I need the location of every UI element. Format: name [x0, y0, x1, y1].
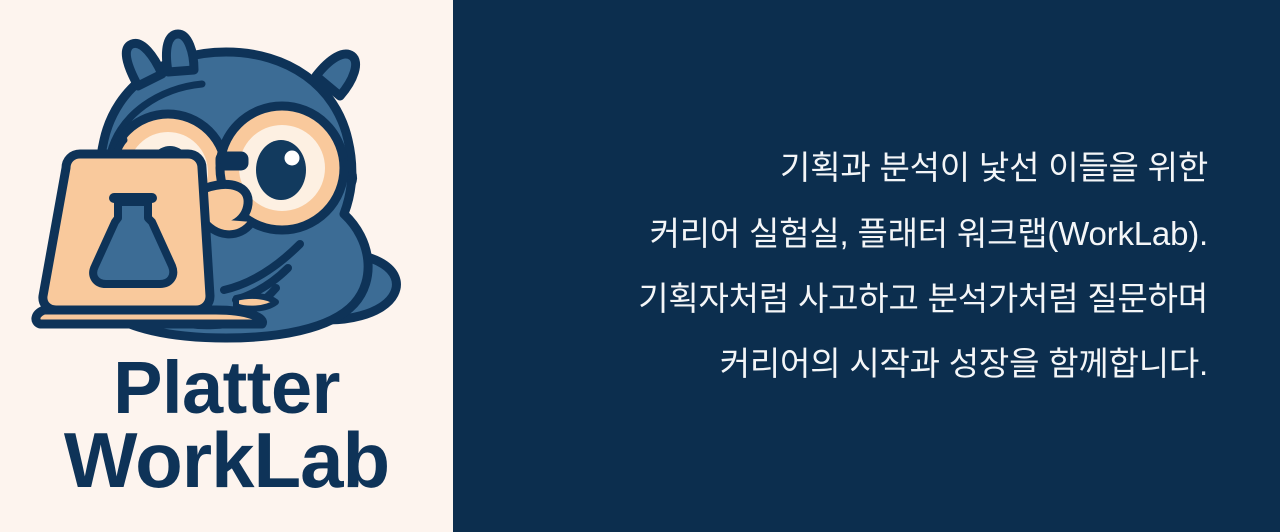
tagline-block: 기획과 분석이 낯선 이들을 위한 커리어 실험실, 플래터 워크랩(WorkL…: [638, 135, 1208, 396]
wordmark-line-worklab: WorkLab: [0, 423, 453, 498]
tagline-line-2: 커리어 실험실, 플래터 워크랩(WorkLab).: [638, 201, 1208, 266]
tagline-line-4: 커리어의 시작과 성장을 함께합니다.: [638, 331, 1208, 396]
tagline-panel: 기획과 분석이 낯선 이들을 위한 커리어 실험실, 플래터 워크랩(WorkL…: [453, 0, 1280, 532]
tagline-line-1: 기획과 분석이 낯선 이들을 위한: [638, 135, 1208, 200]
tagline-line-3: 기획자처럼 사고하고 분석가처럼 질문하며: [638, 266, 1208, 331]
wordmark: Platter WorkLab: [0, 352, 453, 498]
wordmark-line-platter: Platter: [0, 352, 453, 423]
owl-logo-mark: [0, 22, 453, 362]
logo-panel: Platter WorkLab: [0, 0, 453, 532]
brand-banner: Platter WorkLab 기획과 분석이 낯선 이들을 위한 커리어 실험…: [0, 0, 1280, 532]
